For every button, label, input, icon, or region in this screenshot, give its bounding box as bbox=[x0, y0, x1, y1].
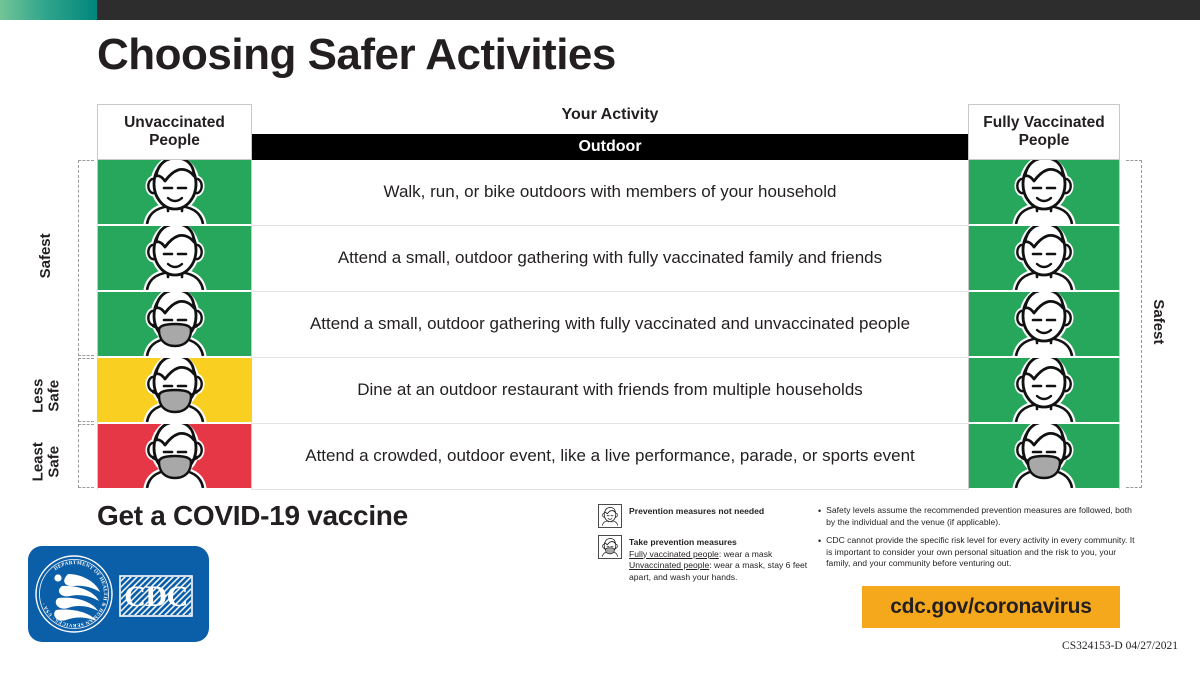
call-to-action: Get a COVID-19 vaccine bbox=[97, 500, 408, 532]
cdc-logo-text: CDC bbox=[124, 580, 188, 613]
activity-risk-table: Unvaccinated People Your Activity Outdoo… bbox=[97, 104, 1120, 490]
page-title: Choosing Safer Activities bbox=[97, 30, 616, 80]
fully-vaccinated-risk-cell bbox=[968, 424, 1120, 490]
table-row: Dine at an outdoor restaurant with frien… bbox=[97, 358, 1120, 424]
top-bar bbox=[0, 0, 1200, 20]
column-header-unvaccinated: Unvaccinated People bbox=[97, 104, 252, 160]
activity-description: Dine at an outdoor restaurant with frien… bbox=[252, 358, 968, 424]
activity-description: Attend a crowded, outdoor event, like a … bbox=[252, 424, 968, 490]
legend-item: Take prevention measuresFully vaccinated… bbox=[598, 535, 810, 583]
risk-bracket-left bbox=[78, 358, 94, 422]
unvaccinated-risk-cell bbox=[97, 226, 252, 292]
fully-vaccinated-risk-cell bbox=[968, 292, 1120, 358]
bullet-icon: • bbox=[818, 535, 821, 571]
column-header-fully-vaccinated: Fully Vaccinated People bbox=[968, 104, 1120, 160]
footnote-text: Safety levels assume the recommended pre… bbox=[826, 505, 1140, 529]
table-body: Walk, run, or bike outdoors with members… bbox=[97, 160, 1120, 490]
risk-bracket-left bbox=[78, 424, 94, 488]
fully-vaccinated-risk-cell bbox=[968, 160, 1120, 226]
footnote-item: •Safety levels assume the recommended pr… bbox=[818, 505, 1140, 529]
table-header-row: Unvaccinated People Your Activity Outdoo… bbox=[97, 104, 1120, 160]
section-bar-outdoor: Outdoor bbox=[252, 134, 968, 160]
gradient-accent-bar bbox=[0, 0, 97, 20]
legend-text: Prevention measures not needed bbox=[629, 504, 764, 528]
url-banner[interactable]: cdc.gov/coronavirus bbox=[862, 586, 1120, 628]
legend-item: Prevention measures not needed bbox=[598, 504, 810, 528]
unvaccinated-risk-cell bbox=[97, 292, 252, 358]
column-header-activity: Your Activity Outdoor bbox=[252, 104, 968, 160]
risk-level-label-right: Safest bbox=[1150, 282, 1166, 362]
cdc-logo: DEPARTMENT OF HEALTH & HUMAN SERVICES · … bbox=[28, 546, 209, 642]
fully-vaccinated-risk-cell bbox=[968, 358, 1120, 424]
activity-description: Attend a small, outdoor gathering with f… bbox=[252, 226, 968, 292]
table-row: Attend a crowded, outdoor event, like a … bbox=[97, 424, 1120, 490]
unvaccinated-risk-cell bbox=[97, 160, 252, 226]
footnote-text: CDC cannot provide the specific risk lev… bbox=[826, 535, 1140, 571]
activity-description: Attend a small, outdoor gathering with f… bbox=[252, 292, 968, 358]
legend-text: Take prevention measuresFully vaccinated… bbox=[629, 535, 810, 583]
unvaccinated-risk-cell bbox=[97, 424, 252, 490]
fully-vaccinated-risk-cell bbox=[968, 226, 1120, 292]
bullet-icon: • bbox=[818, 505, 821, 529]
risk-level-label: Safest bbox=[38, 216, 54, 296]
legend: Prevention measures not needed Take prev… bbox=[598, 504, 810, 590]
activity-description: Walk, run, or bike outdoors with members… bbox=[252, 160, 968, 226]
activity-header-label: Your Activity bbox=[252, 106, 968, 124]
risk-bracket-right bbox=[1126, 160, 1142, 488]
table-row: Walk, run, or bike outdoors with members… bbox=[97, 160, 1120, 226]
risk-level-label: Least Safe bbox=[30, 422, 62, 502]
face-no-mask-icon bbox=[598, 504, 622, 528]
table-row: Attend a small, outdoor gathering with f… bbox=[97, 226, 1120, 292]
publication-code: CS324153-D 04/27/2021 bbox=[1062, 640, 1178, 652]
table-row: Attend a small, outdoor gathering with f… bbox=[97, 292, 1120, 358]
unvaccinated-risk-cell bbox=[97, 358, 252, 424]
footnote-item: •CDC cannot provide the specific risk le… bbox=[818, 535, 1140, 571]
risk-bracket-left bbox=[78, 160, 94, 356]
footnotes: •Safety levels assume the recommended pr… bbox=[818, 505, 1140, 576]
face-mask-icon bbox=[598, 535, 622, 559]
